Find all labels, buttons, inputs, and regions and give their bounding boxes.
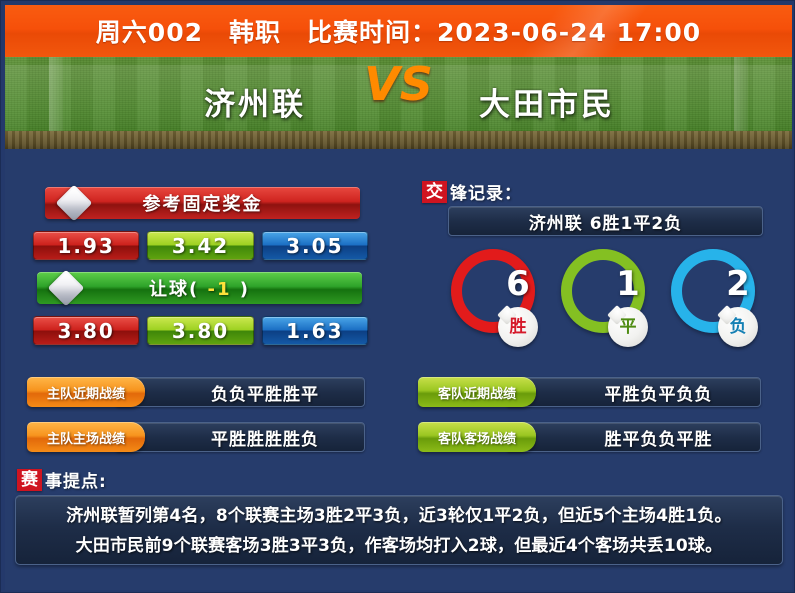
h2h-rings: 6 胜 1 平 2 负 xyxy=(440,249,770,359)
match-header-title: 周六002 韩职 比赛时间：2023-06-24 17:00 xyxy=(96,13,701,49)
h2h-ring-win: 6 胜 xyxy=(448,249,540,349)
h2h-summary-strip: 济州联 6胜1平2负 xyxy=(448,206,763,236)
home-recent-form-strip: 负负平胜胜平 xyxy=(115,377,365,407)
handicap-odds-title: 让球( -1 ) xyxy=(149,275,250,301)
away-recent-form-tag: 客队近期战绩 xyxy=(418,377,536,407)
handicap-value: -1 xyxy=(208,279,232,300)
match-header-bar: 周六002 韩职 比赛时间：2023-06-24 17:00 xyxy=(5,5,792,57)
fixed-odds-lose[interactable]: 3.05 xyxy=(262,231,368,260)
handicap-odds-win[interactable]: 3.80 xyxy=(33,316,139,345)
away-recent-form-value: 平胜负平负负 xyxy=(555,380,713,405)
notes-box: 济州联暂列第4名，8个联赛主场3胜2平3负，近3轮仅1平2负，但近5个主场4胜1… xyxy=(15,495,783,565)
notes-title-text: 事提点: xyxy=(45,467,107,492)
pitch-dirt-strip xyxy=(5,131,792,149)
home-team-name: 济州联 xyxy=(145,79,365,124)
pitch-post-right xyxy=(734,57,748,135)
handicap-odds-values: 3.80 3.80 1.63 xyxy=(33,316,368,345)
draw-badge: 平 xyxy=(608,307,648,347)
fixed-odds-win[interactable]: 1.93 xyxy=(33,231,139,260)
fixed-odds-header: 参考固定奖金 xyxy=(45,187,360,219)
lose-badge-label: 负 xyxy=(730,319,747,336)
notes-title-badge: 赛 xyxy=(17,469,42,491)
match-notes-section: 赛 事提点: 济州联暂列第4名，8个联赛主场3胜2平3负，近3轮仅1平2负，但近… xyxy=(5,463,792,581)
handicap-odds-header: 让球( -1 ) xyxy=(37,272,362,304)
win-count: 6 xyxy=(496,267,540,301)
home-recent-form-row: 主队近期战绩 负负平胜胜平 xyxy=(27,377,367,407)
draw-count: 1 xyxy=(606,267,650,301)
home-venue-form-tag: 主队主场战绩 xyxy=(27,422,145,452)
win-badge: 胜 xyxy=(498,307,538,347)
vs-icon: VS xyxy=(364,61,433,107)
away-venue-form-strip: 胜平负负平胜 xyxy=(506,422,761,452)
pitch-post-left xyxy=(49,57,63,135)
draw-badge-label: 平 xyxy=(620,319,637,336)
home-venue-form-value: 平胜胜胜胜负 xyxy=(161,425,319,450)
home-recent-form-value: 负负平胜胜平 xyxy=(161,380,319,405)
diamond-gem-icon xyxy=(56,185,93,222)
handicap-odds-lose[interactable]: 1.63 xyxy=(262,316,368,345)
away-venue-form-value: 胜平负负平胜 xyxy=(555,425,713,450)
fixed-odds-title: 参考固定奖金 xyxy=(143,190,263,216)
h2h-title-badge: 交 xyxy=(422,181,447,203)
notes-line-1: 济州联暂列第4名，8个联赛主场3胜2平3负，近3轮仅1平2负，但近5个主场4胜1… xyxy=(26,501,772,531)
diamond-gem-icon xyxy=(48,270,85,307)
away-recent-form-row: 客队近期战绩 平胜负平负负 xyxy=(418,377,763,407)
away-team-name: 大田市民 xyxy=(432,79,662,124)
lose-badge: 负 xyxy=(718,307,758,347)
h2h-title-text: 锋记录： xyxy=(450,179,522,204)
notes-line-2: 大田市民前9个联赛客场3胜3平3负，作客场均打入2球，但最近4个客场共丢10球。 xyxy=(26,531,772,561)
h2h-ring-lose: 2 负 xyxy=(668,249,760,349)
h2h-section-title: 交 锋记录： xyxy=(422,179,522,204)
handicap-odds-draw[interactable]: 3.80 xyxy=(147,316,253,345)
away-venue-form-tag: 客队客场战绩 xyxy=(418,422,536,452)
lose-count: 2 xyxy=(716,267,760,301)
fixed-odds-draw[interactable]: 3.42 xyxy=(147,231,253,260)
team-banner: 济州联 VS 大田市民 xyxy=(5,57,792,149)
home-venue-form-strip: 平胜胜胜胜负 xyxy=(115,422,365,452)
away-venue-form-row: 客队客场战绩 胜平负负平胜 xyxy=(418,422,763,452)
away-recent-form-strip: 平胜负平负负 xyxy=(506,377,761,407)
h2h-summary-text: 济州联 6胜1平2负 xyxy=(529,209,682,234)
notes-title: 赛 事提点: xyxy=(17,467,107,492)
h2h-ring-draw: 1 平 xyxy=(558,249,650,349)
win-badge-label: 胜 xyxy=(510,319,527,336)
home-venue-form-row: 主队主场战绩 平胜胜胜胜负 xyxy=(27,422,367,452)
fixed-odds-values: 1.93 3.42 3.05 xyxy=(33,231,368,260)
match-preview-card: 周六002 韩职 比赛时间：2023-06-24 17:00 济州联 VS 大田… xyxy=(0,0,795,593)
home-recent-form-tag: 主队近期战绩 xyxy=(27,377,145,407)
